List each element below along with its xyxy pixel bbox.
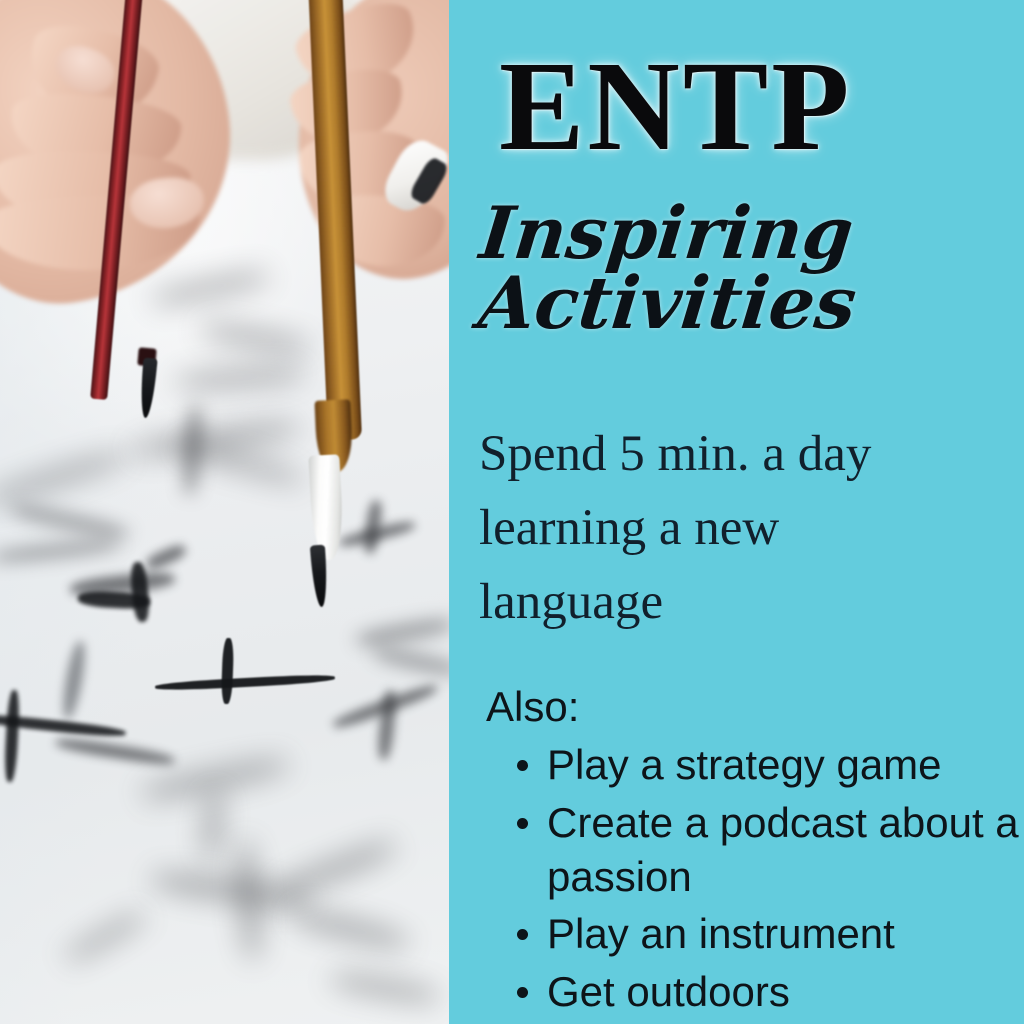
list-item: Get outdoors <box>547 965 1024 1019</box>
list-item: Play a strategy game <box>547 738 1024 792</box>
hands-group <box>0 0 449 1024</box>
calligraphy-photo <box>0 0 449 1024</box>
activity-list: Play a strategy gameCreate a podcast abo… <box>511 738 1024 1023</box>
subtitle-line-2: Activities <box>476 268 877 338</box>
primary-activity-text: Spend 5 min. a day learning a new langua… <box>479 418 949 640</box>
list-item: Play an instrument <box>547 907 1024 961</box>
text-panel: ENTP Inspiring Activities Spend 5 min. a… <box>449 0 1024 1024</box>
list-item: Create a podcast about a passion <box>547 796 1024 904</box>
also-label: Also: <box>486 686 579 728</box>
subtitle-line-1: Inspiring <box>477 198 884 268</box>
page-title: ENTP <box>499 42 852 170</box>
subtitle: Inspiring Activities <box>470 198 885 338</box>
entp-inspiring-activities-card: ENTP Inspiring Activities Spend 5 min. a… <box>0 0 1024 1024</box>
